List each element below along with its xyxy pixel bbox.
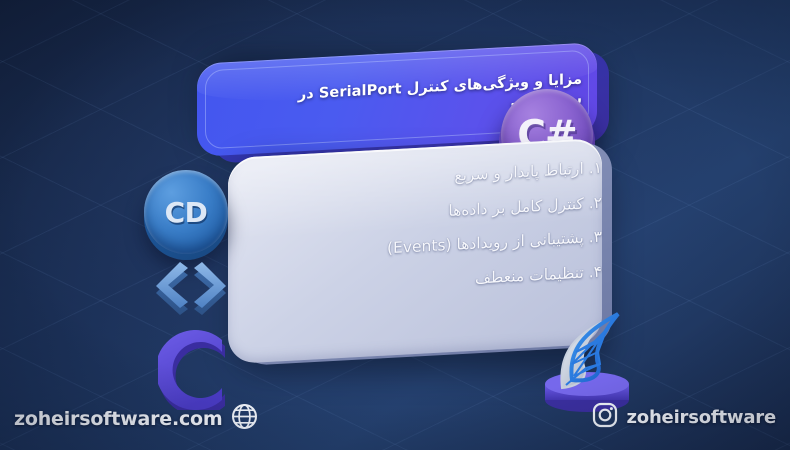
list-item: ۳. پشتیبانی از رویدادها (Events) (258, 230, 602, 264)
title-banner: مزایا و ویژگی‌های کنترل SerialPort در سی… (193, 30, 608, 150)
sql-server-icon (528, 292, 646, 414)
cd-badge-icon: CD (140, 168, 232, 260)
letter-c-icon (158, 330, 244, 410)
instagram-icon (592, 402, 618, 432)
footer-website[interactable]: zoheirsoftware.com (14, 403, 258, 434)
code-brackets-icon (152, 258, 230, 320)
website-url: zoheirsoftware.com (14, 408, 222, 430)
footer-instagram[interactable]: zoheirsoftware (592, 402, 777, 432)
list-item: ۲. کنترل کامل بر داده‌ها (258, 195, 602, 229)
graphic-canvas: مزایا و ویژگی‌های کنترل SerialPort در سی… (0, 0, 790, 450)
instagram-handle: zoheirsoftware (627, 407, 777, 428)
globe-www-icon (231, 403, 258, 434)
cd-badge-face: CD (144, 170, 228, 254)
cd-badge-label: CD (165, 196, 208, 229)
